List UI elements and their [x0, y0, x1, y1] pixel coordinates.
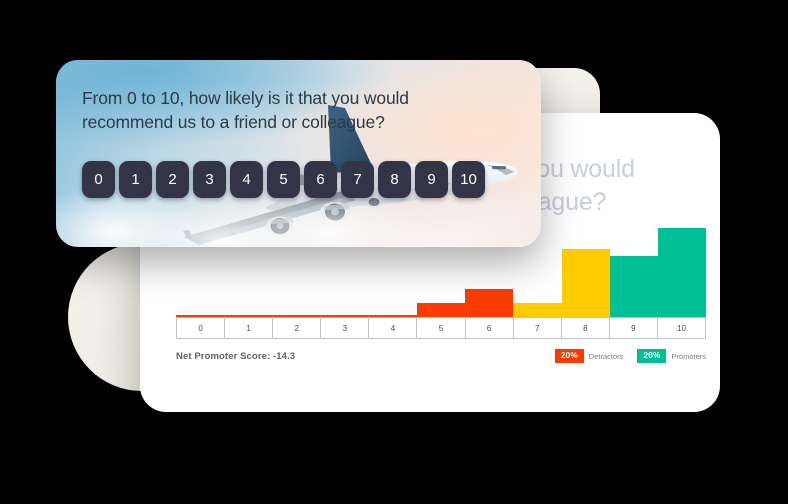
score-button-3[interactable]: 3	[193, 161, 226, 198]
legend-label-detractors: Detractors	[589, 352, 624, 361]
score-button-0[interactable]: 0	[82, 161, 115, 198]
score-button-5[interactable]: 5	[267, 161, 300, 198]
score-button-1[interactable]: 1	[119, 161, 152, 198]
score-button-8[interactable]: 8	[378, 161, 411, 198]
score-button-4[interactable]: 4	[230, 161, 263, 198]
axis-label-7: 7	[514, 318, 562, 338]
axis-label-4: 4	[369, 318, 417, 338]
survey-question-text: From 0 to 10, how likely is it that you …	[82, 87, 502, 134]
score-button-2[interactable]: 2	[156, 161, 189, 198]
nps-score-buttons[interactable]: 012345678910	[82, 161, 485, 198]
bar-8	[562, 249, 610, 317]
axis-label-6: 6	[466, 318, 514, 338]
chart-axis-labels: 012345678910	[176, 317, 706, 339]
axis-label-5: 5	[417, 318, 465, 338]
score-button-6[interactable]: 6	[304, 161, 337, 198]
axis-label-2: 2	[273, 318, 321, 338]
legend-badge-detractors: 20%	[555, 349, 584, 362]
score-button-7[interactable]: 7	[341, 161, 374, 198]
axis-label-3: 3	[321, 318, 369, 338]
legend-item-detractors: 20%Detractors	[555, 349, 624, 362]
score-button-10[interactable]: 10	[452, 161, 485, 198]
axis-label-8: 8	[562, 318, 610, 338]
survey-question-card: From 0 to 10, how likely is it that you …	[56, 60, 541, 247]
score-button-9[interactable]: 9	[415, 161, 448, 198]
legend-item-promoters: 20%Promoters	[637, 349, 706, 362]
bar-6	[465, 289, 513, 317]
net-promoter-score-label: Net Promoter Score: -14.3	[176, 351, 295, 362]
axis-label-9: 9	[610, 318, 658, 338]
chart-legend: 20%Detractors20%Promoters	[555, 349, 706, 362]
chart-footer: Net Promoter Score: -14.3 20%Detractors2…	[176, 348, 706, 364]
bar-9	[610, 256, 658, 317]
axis-label-1: 1	[225, 318, 273, 338]
composition-stage: you would eague? 012345678910 Net Promot…	[0, 0, 788, 504]
bar-10	[658, 228, 706, 317]
legend-label-promoters: Promoters	[671, 352, 706, 361]
axis-label-0: 0	[177, 318, 225, 338]
obscured-question-text: you would eague?	[524, 153, 720, 219]
bar-5	[417, 303, 465, 317]
bar-7	[513, 303, 561, 317]
axis-label-10: 10	[658, 318, 705, 338]
legend-badge-promoters: 20%	[637, 349, 666, 362]
